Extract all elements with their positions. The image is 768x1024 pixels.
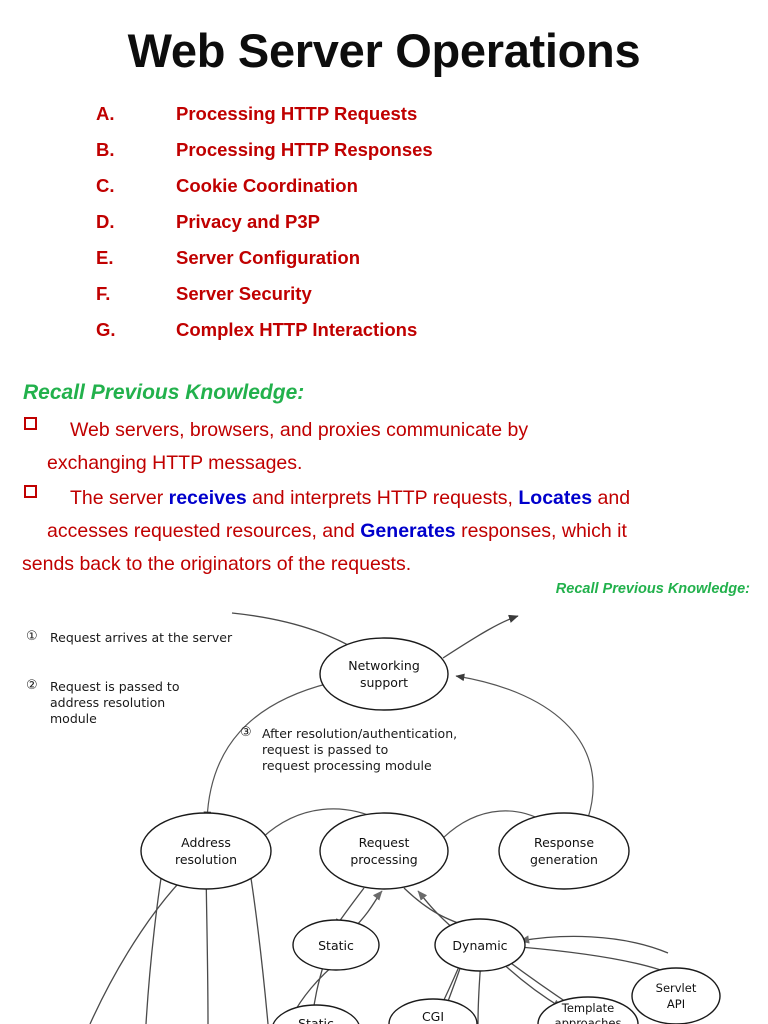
edge-bottom-address-4 — [248, 860, 268, 1024]
node-address-resolution[interactable]: Address resolution — [141, 813, 271, 889]
node-response-line-2: generation — [530, 852, 598, 867]
keyword-receives: receives — [169, 487, 247, 509]
node-request-line-1: Request — [359, 835, 410, 850]
recall-heading: Recall Previous Knowledge: — [23, 381, 304, 405]
note-2-text: Request is passed to address resolution … — [50, 679, 179, 727]
edge-template-dynamic — [504, 958, 572, 1006]
agenda-letter: G. — [96, 319, 176, 341]
web-server-architecture-diagram: ① Request arrives at the server ② Reques… — [0, 598, 768, 1024]
slide: Web Server Operations A. Processing HTTP… — [0, 0, 768, 1024]
agenda-item-b: B. Processing HTTP Responses — [96, 139, 716, 175]
agenda-list: A. Processing HTTP Requests B. Processin… — [96, 103, 716, 355]
node-response-line-1: Response — [534, 835, 594, 850]
square-bullet-icon — [24, 485, 37, 498]
keyword-generates: Generates — [360, 520, 455, 542]
agenda-letter: E. — [96, 247, 176, 269]
square-bullet-icon — [24, 417, 37, 430]
note-3-number: ③ — [240, 725, 252, 740]
node-address-line-2: resolution — [175, 852, 237, 867]
node-template-line-1: Template — [561, 1001, 614, 1015]
bullet-1-line-1: Web servers, browsers, and proxies commu… — [22, 414, 752, 447]
node-networking-line-1: Networking — [348, 658, 420, 673]
agenda-letter: D. — [96, 211, 176, 233]
agenda-letter: C. — [96, 175, 176, 197]
text-run: The server — [70, 487, 169, 509]
bullet-item-2: The server receives and interprets HTTP … — [22, 482, 752, 581]
agenda-label: Complex HTTP Interactions — [176, 319, 716, 341]
text-run: accesses requested resources, and — [47, 520, 360, 542]
bullet-1-line-2: exchanging HTTP messages. — [22, 447, 752, 480]
bullet-2-line-3: sends back to the originators of the req… — [22, 548, 752, 581]
diagram-caption: Recall Previous Knowledge: — [556, 581, 750, 597]
bullet-2-line-2: accesses requested resources, and Genera… — [22, 515, 752, 548]
agenda-item-c: C. Cookie Coordination — [96, 175, 716, 211]
node-static[interactable]: Static — [293, 920, 379, 970]
agenda-label: Processing HTTP Requests — [176, 103, 716, 125]
edge-bottom-address-2 — [146, 860, 164, 1024]
note-3-text: After resolution/authentication, request… — [262, 726, 457, 774]
note-2-number: ② — [26, 678, 38, 693]
node-response-generation[interactable]: Response generation — [499, 813, 629, 889]
agenda-label: Server Security — [176, 283, 716, 305]
edge-dynamic-request — [418, 891, 455, 930]
node-template-line-2: approaches — [555, 1016, 622, 1024]
node-networking-line-2: support — [360, 675, 408, 690]
text-run: responses, which it — [456, 520, 627, 542]
note-1-number: ① — [26, 629, 38, 644]
text-run: and — [592, 487, 630, 509]
agenda-item-a: A. Processing HTTP Requests — [96, 103, 716, 139]
note-1-text: Request arrives at the server — [50, 630, 232, 646]
edge-bottom-address-1 — [90, 866, 196, 1024]
node-servlet-line-2: API — [667, 997, 685, 1011]
agenda-label: Server Configuration — [176, 247, 716, 269]
text-run: and interprets HTTP requests, — [247, 487, 519, 509]
node-request-line-2: processing — [350, 852, 417, 867]
agenda-item-e: E. Server Configuration — [96, 247, 716, 283]
node-address-line-1: Address — [181, 835, 231, 850]
node-cgi[interactable]: CGI — [389, 999, 477, 1024]
node-template-approaches[interactable]: Template approaches — [538, 997, 638, 1024]
node-cgi-label: CGI — [422, 1009, 444, 1024]
node-networking-support[interactable]: Networking support — [320, 638, 448, 710]
agenda-letter: B. — [96, 139, 176, 161]
node-static-label: Static — [318, 938, 354, 953]
node-dynamic[interactable]: Dynamic — [435, 919, 525, 971]
recall-bullets: Web servers, browsers, and proxies commu… — [22, 414, 752, 583]
node-static-file[interactable]: Static — [272, 1005, 360, 1024]
node-servlet-api[interactable]: Servlet API — [632, 968, 720, 1024]
agenda-label: Privacy and P3P — [176, 211, 716, 233]
edge-response-networking — [456, 676, 593, 818]
agenda-label: Processing HTTP Responses — [176, 139, 716, 161]
node-request-processing[interactable]: Request processing — [320, 813, 448, 889]
bullet-item-1: Web servers, browsers, and proxies commu… — [22, 414, 752, 480]
edge-response-out — [443, 616, 518, 658]
agenda-item-d: D. Privacy and P3P — [96, 211, 716, 247]
edge-servlet-dynamic — [520, 936, 668, 953]
agenda-item-f: F. Server Security — [96, 283, 716, 319]
bullet-2-line-1: The server receives and interprets HTTP … — [22, 482, 752, 515]
agenda-letter: A. — [96, 103, 176, 125]
node-dynamic-label: Dynamic — [452, 938, 507, 953]
node-static-file-label: Static — [298, 1016, 334, 1024]
diagram-canvas: Networking support Address resolution Re… — [0, 598, 768, 1024]
node-servlet-line-1: Servlet — [656, 981, 697, 995]
agenda-label: Cookie Coordination — [176, 175, 716, 197]
keyword-locates: Locates — [518, 487, 592, 509]
agenda-item-g: G. Complex HTTP Interactions — [96, 319, 716, 355]
page-title: Web Server Operations — [0, 26, 768, 75]
agenda-letter: F. — [96, 283, 176, 305]
